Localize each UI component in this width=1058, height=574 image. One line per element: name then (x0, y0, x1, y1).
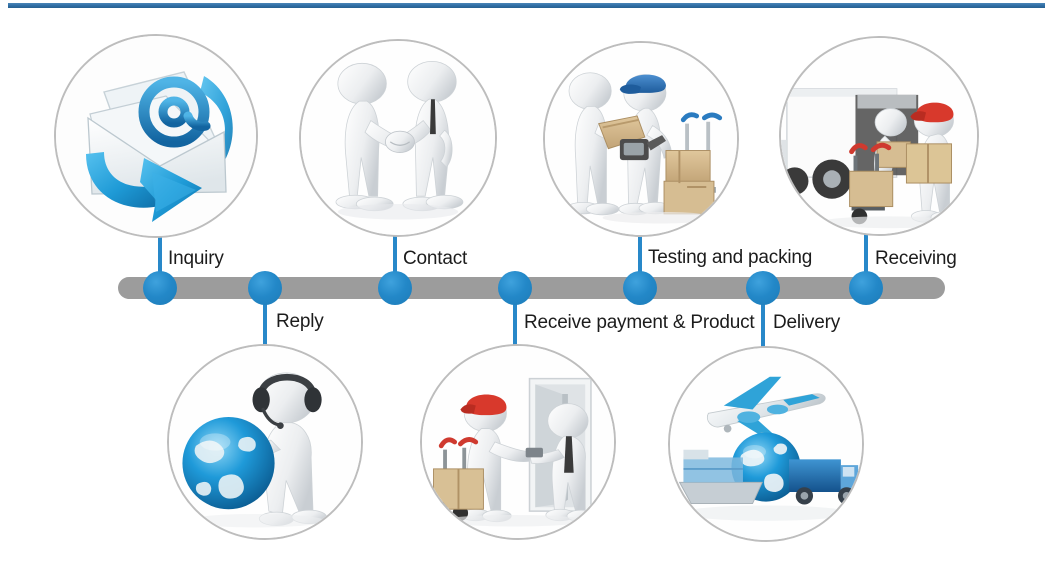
timeline-label-delivery: Delivery (773, 312, 840, 334)
media-circle-receive-payment-product (420, 344, 616, 540)
media-circle-receiving (779, 36, 979, 236)
media-circle-contact (299, 39, 497, 237)
timeline-label-testing-packing: Testing and packing (648, 247, 812, 269)
timeline-label-reply: Reply (276, 311, 324, 333)
timeline-label-inquiry: Inquiry (168, 248, 224, 270)
media-circle-inquiry (54, 34, 258, 238)
media-circle-delivery (668, 346, 864, 542)
timeline-dot-contact[interactable] (378, 271, 412, 305)
timeline-label-contact: Contact (403, 248, 467, 270)
timeline-label-receiving: Receiving (875, 248, 957, 270)
timeline-dot-receive-payment-product[interactable] (498, 271, 532, 305)
media-circle-reply (167, 344, 363, 540)
package-scan-icon (545, 43, 737, 235)
delivery-truck-icon (781, 38, 977, 234)
process-timeline-graphic: Inquiry Reply Contact Receive payment & … (0, 0, 1058, 574)
timeline-dot-delivery[interactable] (746, 271, 780, 305)
timeline-dot-reply[interactable] (248, 271, 282, 305)
top-accent-bar (8, 3, 1045, 8)
doorstep-handoff-icon (422, 346, 614, 538)
handshake-icon (301, 41, 495, 235)
timeline-dot-receiving[interactable] (849, 271, 883, 305)
media-circle-testing-packing (543, 41, 739, 237)
support-headset-globe-icon (169, 346, 361, 538)
timeline-dot-testing-packing[interactable] (623, 271, 657, 305)
timeline-dot-inquiry[interactable] (143, 271, 177, 305)
timeline-label-receive-payment-product: Receive payment & Product (524, 312, 755, 334)
global-logistics-icon (670, 348, 862, 540)
email-envelope-at-arrow-icon (56, 36, 256, 236)
